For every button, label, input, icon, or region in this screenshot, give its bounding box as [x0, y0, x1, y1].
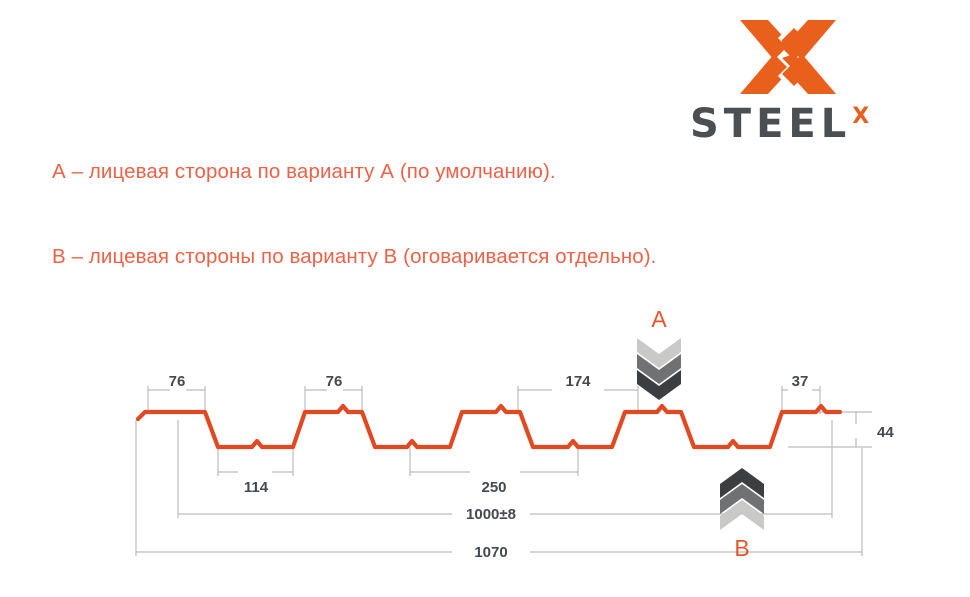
view-direction-marker-b: B — [714, 468, 770, 560]
profile-technical-drawing: 76 76 114 250 174 37 44 1000±8 1070 — [0, 0, 970, 597]
view-marker-label-b: B — [714, 537, 770, 560]
dimension-labels: 76 76 114 250 174 37 44 1000±8 1070 — [169, 373, 895, 561]
chevron-down-icon — [637, 338, 681, 405]
view-direction-marker-a: A — [631, 308, 687, 400]
dimension-label-pitch: 250 — [481, 479, 506, 496]
dimension-label-edge-width: 37 — [792, 373, 809, 390]
dimension-label-total-width: 1070 — [474, 544, 507, 561]
sheet-profile-path — [138, 406, 840, 447]
dimension-label-profile-height: 44 — [877, 424, 894, 441]
view-marker-label-a: A — [631, 308, 687, 331]
dimension-label-rib-span: 174 — [565, 373, 591, 390]
dimension-label-crest-width-left: 76 — [169, 373, 186, 390]
drawing-page: STEEL X А – лицевая сторона по варианту … — [0, 0, 970, 597]
chevron-up-icon — [720, 468, 764, 535]
dimension-label-useful-width: 1000±8 — [466, 506, 516, 523]
dimension-label-valley-width: 114 — [244, 479, 269, 496]
dimension-label-crest-width-mid: 76 — [326, 373, 343, 390]
